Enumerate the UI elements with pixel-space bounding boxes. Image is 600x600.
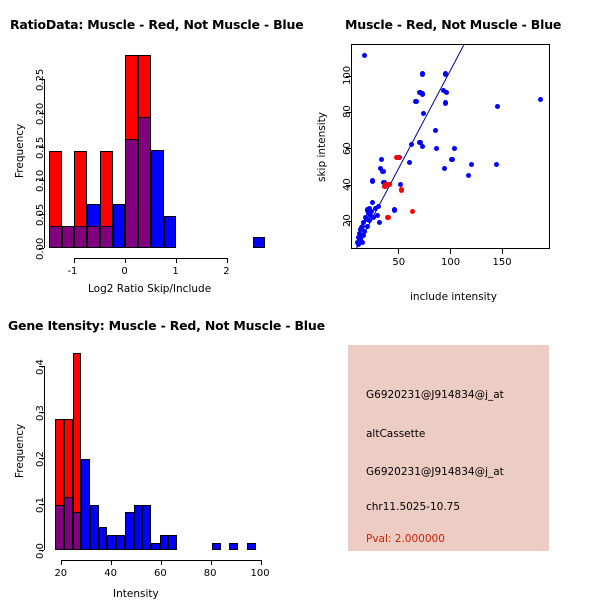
scatter-point-not-muscle bbox=[452, 146, 457, 151]
scatter-point-not-muscle bbox=[379, 157, 384, 162]
hist-bar-not-muscle bbox=[212, 543, 221, 550]
scatter-title: Muscle - Red, Not Muscle - Blue bbox=[345, 17, 561, 32]
x-tick-label: 100 bbox=[441, 257, 460, 268]
scatter-point-not-muscle bbox=[362, 53, 367, 58]
hist-bar-not-muscle bbox=[151, 543, 160, 550]
hist-bar-overlap bbox=[73, 512, 82, 550]
scatter-point-not-muscle bbox=[398, 182, 403, 187]
scatter-plot-area bbox=[352, 45, 549, 248]
scatter-point-not-muscle bbox=[370, 178, 375, 183]
info-line-locus: chr11.5025-10.75 bbox=[366, 501, 460, 513]
hist-bar-not-muscle bbox=[90, 505, 99, 550]
x-tick-label: 60 bbox=[154, 568, 167, 579]
scatter-point-not-muscle bbox=[367, 218, 372, 223]
info-line-pval: Pval: 2.000000 bbox=[366, 533, 445, 545]
hist-bar-not-muscle bbox=[125, 512, 134, 550]
panel-scatter: Muscle - Red, Not Muscle - Blue skip int… bbox=[300, 0, 600, 300]
scatter-xlabel: include intensity bbox=[410, 291, 497, 303]
ratio-hist-xlabel: Log2 Ratio Skip/Include bbox=[88, 283, 211, 295]
y-tick-label: 60 bbox=[342, 142, 353, 155]
x-tick-label: 80 bbox=[204, 568, 217, 579]
x-axis-tick bbox=[61, 560, 62, 565]
hist-bar-not-muscle bbox=[247, 543, 256, 550]
scatter-point-not-muscle bbox=[365, 224, 370, 229]
x-tick-label: 40 bbox=[104, 568, 117, 579]
scatter-point-not-muscle bbox=[413, 99, 418, 104]
hist-bar-not-muscle bbox=[107, 535, 116, 550]
scatter-point-muscle bbox=[385, 215, 390, 220]
hist-bar-not-muscle bbox=[168, 535, 177, 550]
hist-bar-not-muscle bbox=[229, 543, 238, 550]
gene-hist-title: Gene Itensity: Muscle - Red, Not Muscle … bbox=[8, 318, 325, 333]
scatter-point-not-muscle bbox=[420, 91, 425, 96]
hist-bar-not-muscle bbox=[134, 505, 143, 550]
scatter-point-not-muscle bbox=[494, 162, 499, 167]
scatter-point-not-muscle bbox=[380, 169, 385, 174]
scatter-point-not-muscle bbox=[469, 162, 474, 167]
scatter-point-not-muscle bbox=[434, 146, 439, 151]
hist-bar-overlap bbox=[62, 226, 75, 248]
panel-ratio-histogram: RatioData: Muscle - Red, Not Muscle - Bl… bbox=[0, 0, 300, 300]
scatter-point-not-muscle bbox=[420, 71, 425, 76]
y-tick-label: 0.1 bbox=[35, 497, 46, 513]
scatter-point-not-muscle bbox=[442, 166, 447, 171]
x-tick-label: 20 bbox=[54, 568, 67, 579]
scatter-point-not-muscle bbox=[356, 242, 361, 247]
y-tick-label: 0.20 bbox=[35, 103, 46, 125]
hist-bar-not-muscle bbox=[164, 216, 177, 248]
x-tick-label: 2 bbox=[223, 266, 229, 277]
gene-hist-plot-area bbox=[49, 350, 268, 550]
panel-gene-histogram: Gene Itensity: Muscle - Red, Not Muscle … bbox=[0, 300, 300, 600]
y-tick-label: 0.0 bbox=[35, 543, 46, 559]
scatter-point-not-muscle bbox=[443, 100, 448, 105]
x-axis-tick bbox=[74, 258, 75, 263]
figure-canvas: RatioData: Muscle - Red, Not Muscle - Bl… bbox=[0, 0, 600, 600]
y-tick-label: 0.10 bbox=[35, 170, 46, 192]
hist-bar-overlap bbox=[138, 117, 151, 248]
hist-bar-not-muscle bbox=[99, 527, 108, 550]
hist-bar-not-muscle bbox=[113, 204, 126, 248]
x-axis-tick bbox=[125, 258, 126, 263]
scatter-point-not-muscle bbox=[420, 144, 425, 149]
scatter-point-not-muscle bbox=[538, 97, 543, 102]
x-axis-tick bbox=[502, 249, 503, 254]
scatter-point-muscle bbox=[396, 155, 401, 160]
x-axis-tick bbox=[161, 560, 162, 565]
hist-bar-not-muscle bbox=[151, 150, 164, 248]
y-tick-label: 0.2 bbox=[35, 451, 46, 467]
ratio-hist-title: RatioData: Muscle - Red, Not Muscle - Bl… bbox=[10, 17, 303, 32]
x-axis-tick bbox=[227, 258, 228, 263]
y-tick-label: 0.25 bbox=[35, 69, 46, 91]
hist-bar-not-muscle bbox=[160, 535, 169, 550]
x-tick-label: 1 bbox=[172, 266, 178, 277]
panel-info-box: G6920231@J914834@j_at altCassette G69202… bbox=[348, 345, 549, 551]
x-tick-label: 100 bbox=[251, 568, 270, 579]
y-tick-label: 0.00 bbox=[35, 238, 46, 260]
hist-bar-not-muscle bbox=[81, 459, 90, 550]
gene-hist-ylabel: Frequency bbox=[14, 424, 26, 478]
info-line-probeset: G6920231@J914834@j_at bbox=[366, 389, 504, 401]
x-tick-label: 0 bbox=[121, 266, 127, 277]
hist-bar-not-muscle bbox=[142, 505, 151, 550]
scatter-point-not-muscle bbox=[495, 104, 500, 109]
x-axis-tick bbox=[176, 258, 177, 263]
gene-hist-xlabel: Intensity bbox=[113, 588, 159, 600]
scatter-point-not-muscle bbox=[392, 207, 397, 212]
scatter-point-muscle bbox=[382, 184, 387, 189]
y-tick-label: 20 bbox=[342, 214, 353, 227]
hist-bar-overlap bbox=[87, 226, 100, 248]
y-tick-label: 40 bbox=[342, 178, 353, 191]
hist-bar-not-muscle bbox=[253, 237, 266, 248]
x-axis-tick bbox=[450, 249, 451, 254]
scatter-point-not-muscle bbox=[407, 160, 412, 165]
scatter-ylabel: skip intensity bbox=[316, 112, 328, 182]
ratio-hist-plot-area bbox=[49, 52, 268, 248]
x-axis-tick bbox=[211, 560, 212, 565]
x-axis-tick bbox=[111, 560, 112, 565]
scatter-point-muscle bbox=[410, 209, 415, 214]
hist-bar-overlap bbox=[125, 139, 138, 248]
hist-bar-overlap bbox=[74, 226, 87, 248]
x-tick-label: -1 bbox=[67, 266, 77, 277]
y-tick-label: 0.3 bbox=[35, 405, 46, 421]
y-tick-label: 0.4 bbox=[35, 359, 46, 375]
y-tick-label: 100 bbox=[342, 66, 353, 85]
scatter-point-not-muscle bbox=[444, 90, 449, 95]
y-tick-label: 0.15 bbox=[35, 136, 46, 158]
scatter-point-muscle bbox=[399, 187, 404, 192]
x-axis-line bbox=[74, 258, 227, 259]
scatter-point-not-muscle bbox=[409, 142, 414, 147]
y-tick-label: 80 bbox=[342, 106, 353, 119]
scatter-point-not-muscle bbox=[375, 213, 380, 218]
x-axis-tick bbox=[398, 249, 399, 254]
hist-bar-not-muscle bbox=[116, 535, 125, 550]
scatter-point-not-muscle bbox=[449, 157, 454, 162]
x-tick-label: 50 bbox=[392, 257, 405, 268]
scatter-point-not-muscle bbox=[370, 200, 375, 205]
scatter-point-not-muscle bbox=[377, 220, 382, 225]
hist-bar-overlap bbox=[64, 497, 73, 550]
x-tick-label: 150 bbox=[493, 257, 512, 268]
y-tick-label: 0.05 bbox=[35, 204, 46, 226]
x-axis-tick bbox=[261, 560, 262, 565]
hist-bar-overlap bbox=[100, 226, 113, 248]
scatter-point-not-muscle bbox=[466, 173, 471, 178]
info-line-gene-id: G6920231@J914834@j_at bbox=[366, 466, 504, 478]
info-line-event-type: altCassette bbox=[366, 428, 425, 440]
hist-bar-overlap bbox=[49, 226, 62, 248]
ratio-hist-ylabel: Frequency bbox=[14, 124, 26, 178]
scatter-point-not-muscle bbox=[433, 128, 438, 133]
hist-bar-overlap bbox=[55, 505, 64, 550]
scatter-point-not-muscle bbox=[361, 233, 366, 238]
